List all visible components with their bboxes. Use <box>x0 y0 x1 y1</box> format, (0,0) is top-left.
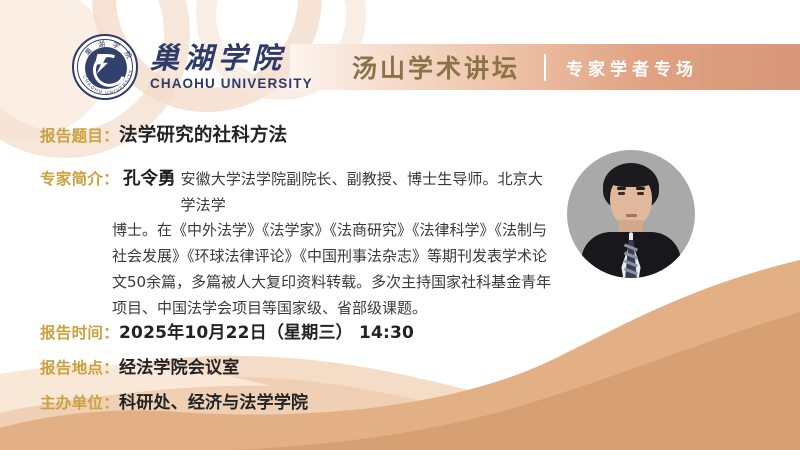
svg-text:CHAOHU UNIVERSITY: CHAOHU UNIVERSITY <box>82 69 133 95</box>
banner-text-group: 汤山学术讲坛 专家学者专场 <box>290 44 800 90</box>
portrait-brow-right <box>636 187 645 190</box>
talk-time-value: 2025年10月22日（星期三） 14:30 <box>119 318 414 343</box>
brand-logo-group: 巢 湖 学 院 CHAOHU UNIVERSITY 巢湖学院 CHAOHU UN… <box>72 34 313 100</box>
brand-wordmark: 巢湖学院 CHAOHU UNIVERSITY <box>150 43 313 90</box>
portrait-eye-right <box>637 192 644 195</box>
speaker-bio-label: 专家简介： <box>40 167 119 189</box>
talk-title-label: 报告题目： <box>40 124 119 146</box>
banner-title: 汤山学术讲坛 <box>352 49 520 85</box>
brand-name-en: CHAOHU UNIVERSITY <box>150 76 313 91</box>
portrait-fringe <box>607 169 655 187</box>
speaker-bio-line-1: 安徽大学法学院副院长、副教授、博士生导师。北京大学法学 <box>181 166 555 218</box>
talk-organizer-row: 主办单位： 科研处、经济与法学学院 <box>40 388 308 413</box>
chaohu-university-seal-icon: 巢 湖 学 院 CHAOHU UNIVERSITY <box>72 34 138 100</box>
talk-organizer-value: 科研处、经济与法学学院 <box>119 388 308 413</box>
banner-subtitle: 专家学者专场 <box>566 55 698 80</box>
speaker-bio-first-line: 专家简介： 孔令勇 安徽大学法学院副院长、副教授、博士生导师。北京大学法学 <box>40 165 555 218</box>
talk-place-row: 报告地点： 经法学院会议室 <box>40 353 239 378</box>
brand-name-cn: 巢湖学院 <box>150 43 313 73</box>
talk-time-label: 报告时间： <box>40 321 119 343</box>
talk-title-row: 报告题目： 法学研究的社科方法 <box>40 121 287 147</box>
talk-time-row: 报告时间： 2025年10月22日（星期三） 14:30 <box>40 318 414 343</box>
speaker-name: 孔令勇 <box>123 165 176 190</box>
portrait-mouth <box>626 214 637 217</box>
talk-title-value: 法学研究的社科方法 <box>119 121 287 147</box>
talk-place-value: 经法学院会议室 <box>119 353 239 378</box>
talk-organizer-label: 主办单位： <box>40 391 119 413</box>
portrait-brow-left <box>617 187 626 190</box>
talk-place-label: 报告地点： <box>40 356 119 378</box>
svg-text:巢 湖 学 院: 巢 湖 学 院 <box>83 39 135 62</box>
seminar-poster: 汤山学术讲坛 专家学者专场 巢 湖 学 院 CHAOHU UNIVERSITY <box>0 0 800 450</box>
portrait-eye-left <box>618 192 625 195</box>
banner-separator-icon <box>544 54 546 81</box>
bottom-wave-decoration <box>0 246 800 450</box>
seal-ring-text: 巢 湖 学 院 CHAOHU UNIVERSITY <box>74 36 140 102</box>
